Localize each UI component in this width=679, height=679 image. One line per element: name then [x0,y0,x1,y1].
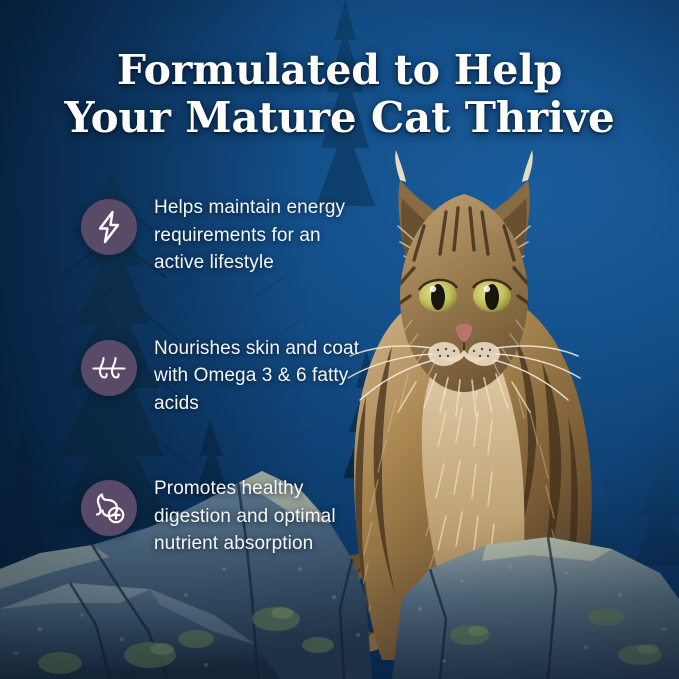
fur-follicle-icon [81,340,137,396]
page-title: Formulated to Help Your Mature Cat Thriv… [0,46,679,142]
benefit-item-digestion: Promotes healthy digestion and optimal n… [81,471,401,558]
benefit-text-digestion: Promotes healthy digestion and optimal n… [154,471,362,558]
benefit-item-skin-coat: Nourishes skin and coat with Omega 3 & 6… [81,331,401,418]
benefit-item-energy: Helps maintain energy requirements for a… [81,190,401,277]
marketing-hero-image: Formulated to Help Your Mature Cat Thriv… [0,0,679,679]
lightning-bolt-icon [81,199,137,255]
benefit-text-energy: Helps maintain energy requirements for a… [154,190,362,277]
benefit-text-skin-coat: Nourishes skin and coat with Omega 3 & 6… [154,331,362,418]
headline-line-2: Your Mature Cat Thrive [0,94,679,142]
benefits-list: Helps maintain energy requirements for a… [81,190,401,558]
stomach-plus-icon [81,480,137,536]
headline-line-1: Formulated to Help [0,46,679,94]
